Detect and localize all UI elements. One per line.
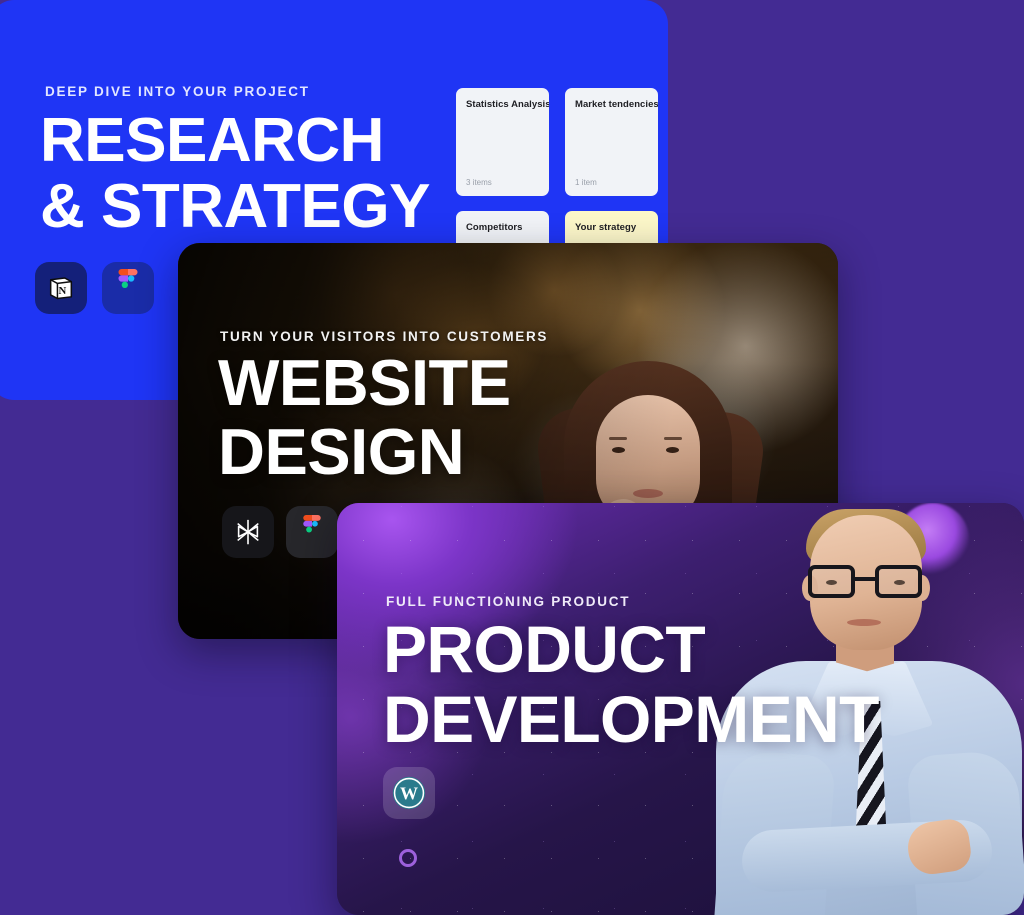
research-tool-list: N	[35, 262, 154, 314]
research-headline-line1: RESEARCH	[40, 108, 430, 174]
product-headline-line1: PRODUCT	[383, 615, 879, 685]
product-tool-list: W	[383, 767, 435, 819]
figma-icon[interactable]	[286, 506, 338, 558]
kanban-card-title: Statistics Analysis	[466, 99, 539, 110]
website-headline-line1: WEBSITE	[218, 349, 511, 418]
notion-icon[interactable]: N	[35, 262, 87, 314]
cards-stage: DEEP DIVE INTO YOUR PROJECT RESEARCH & S…	[0, 0, 1024, 915]
kanban-card-title: Your strategy	[575, 222, 648, 233]
kanban-card-meta: 3 items	[466, 178, 492, 187]
website-tool-list	[222, 506, 338, 558]
website-headline-line2: DESIGN	[218, 418, 511, 487]
kanban-card-title: Market tendencies	[575, 99, 648, 110]
website-eyebrow: TURN YOUR VISITORS INTO CUSTOMERS	[220, 329, 548, 344]
kanban-card-title: Competitors	[466, 222, 539, 233]
website-headline: WEBSITE DESIGN	[218, 349, 511, 487]
card-product-development[interactable]: FULL FUNCTIONING PRODUCT PRODUCT DEVELOP…	[337, 503, 1024, 915]
product-ring-decoration	[399, 849, 417, 867]
product-headline-line2: DEVELOPMENT	[383, 685, 879, 755]
framer-star-icon[interactable]	[222, 506, 274, 558]
kanban-card[interactable]: Market tendencies 1 item	[565, 88, 658, 196]
svg-text:W: W	[400, 784, 418, 804]
wordpress-icon[interactable]: W	[383, 767, 435, 819]
product-headline: PRODUCT DEVELOPMENT	[383, 615, 879, 755]
kanban-card-meta: 1 item	[575, 178, 597, 187]
research-headline-line2: & STRATEGY	[40, 174, 430, 240]
product-eyebrow: FULL FUNCTIONING PRODUCT	[386, 594, 630, 609]
svg-text:N: N	[59, 285, 67, 297]
figma-icon[interactable]	[102, 262, 154, 314]
research-eyebrow: DEEP DIVE INTO YOUR PROJECT	[45, 84, 310, 99]
research-headline: RESEARCH & STRATEGY	[40, 108, 430, 241]
kanban-card[interactable]: Statistics Analysis 3 items	[456, 88, 549, 196]
